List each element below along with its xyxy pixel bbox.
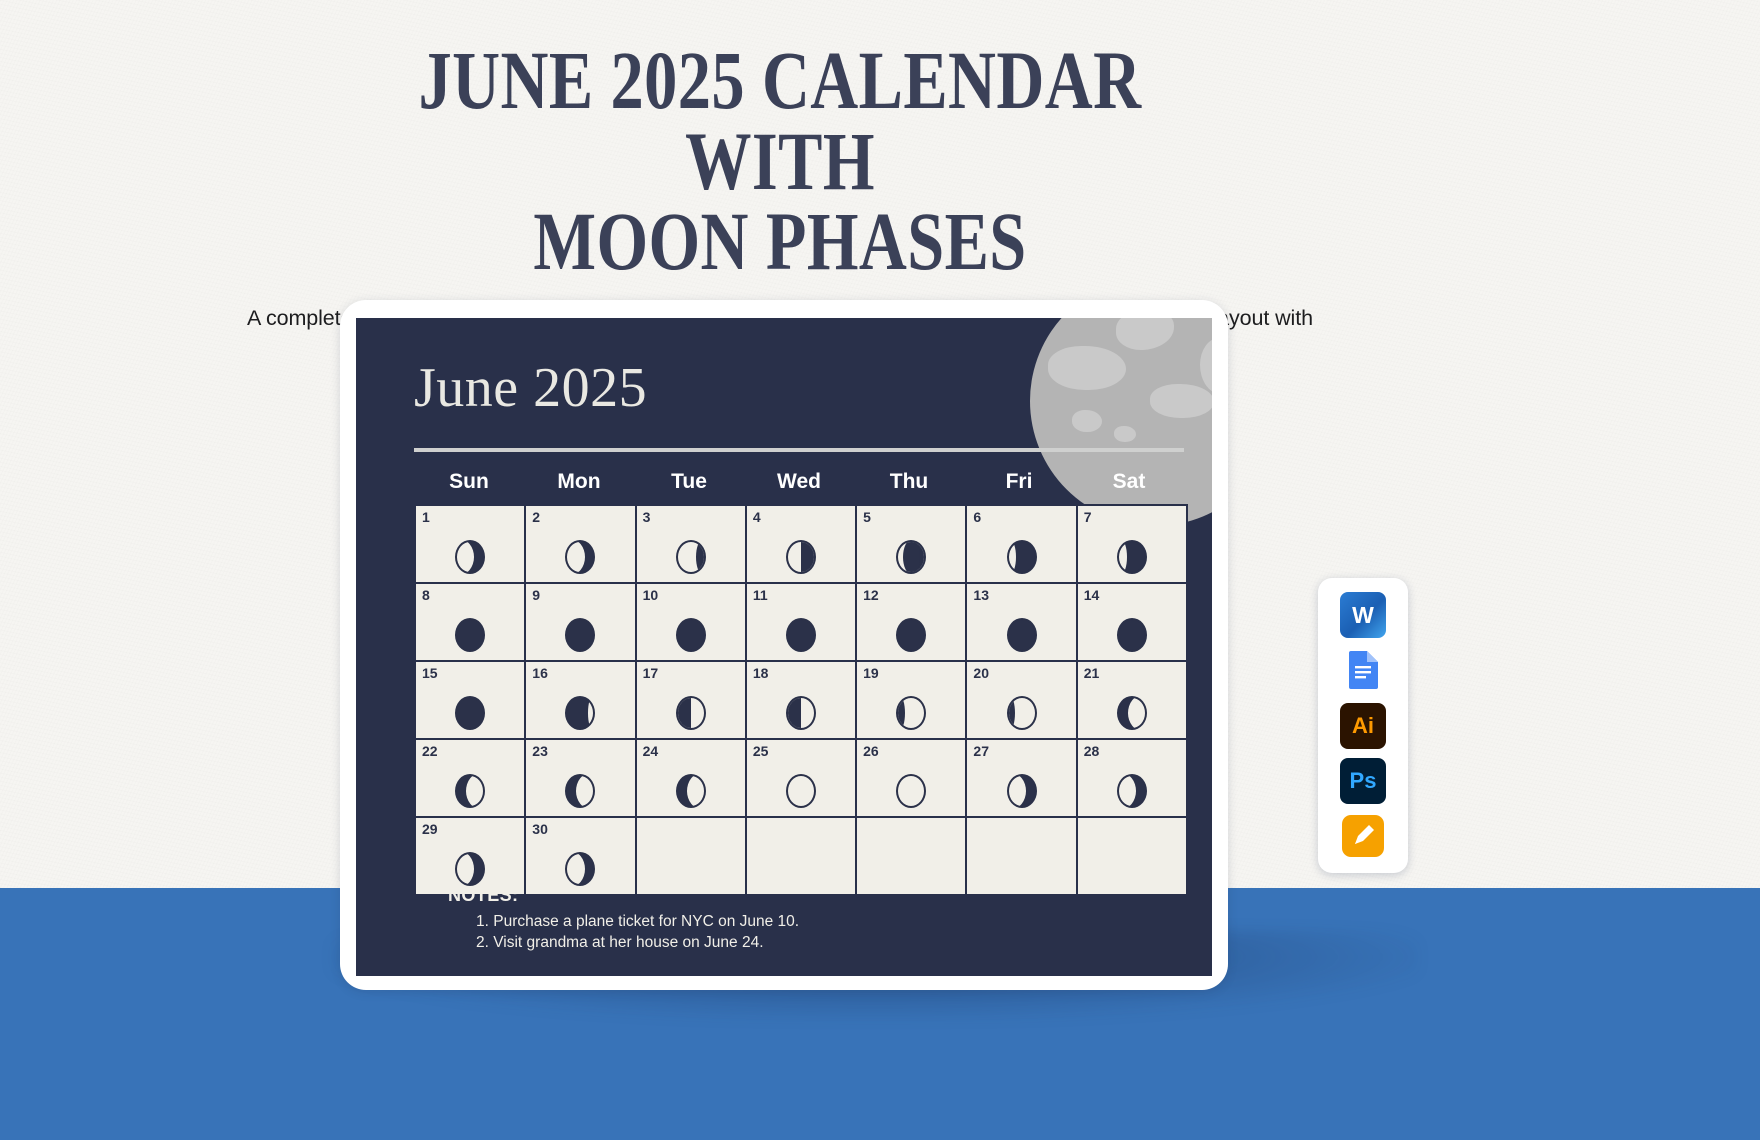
calendar-day-cell[interactable]: 4 [747, 506, 857, 584]
moon-phase-slot [416, 690, 524, 730]
calendar-day-cell[interactable]: 28 [1078, 740, 1188, 818]
weekday-sun: Sun [414, 460, 524, 504]
moon-phase-slot [857, 612, 965, 652]
calendar-day-cell[interactable]: 15 [416, 662, 526, 740]
moon-phase-waning-crescent-wide [1007, 696, 1037, 730]
moon-phase-slot [637, 612, 745, 652]
moon-phase-full [1007, 618, 1037, 652]
day-number: 15 [422, 665, 438, 681]
day-number: 24 [643, 743, 659, 759]
day-number: 16 [532, 665, 548, 681]
moon-phase-slot [967, 768, 1075, 808]
moon-phase-slot [967, 690, 1075, 730]
moon-phase-waxing-crescent-thin [455, 852, 485, 886]
page-title-line-1: JUNE 2025 CALENDAR WITH [419, 34, 1142, 207]
pages-edit-icon[interactable] [1340, 813, 1386, 859]
moon-phase-slot [637, 690, 745, 730]
moon-phase-slot [857, 690, 965, 730]
calendar-day-cell[interactable]: 7 [1078, 506, 1188, 584]
moon-phase-slot [857, 534, 965, 574]
moon-phase-slot [747, 534, 855, 574]
calendar-day-cell[interactable]: 19 [857, 662, 967, 740]
weekday-sat: Sat [1074, 460, 1184, 504]
moon-phase-waning-crescent-thin [1117, 696, 1147, 730]
page-title-line-2: MOON PHASES [533, 195, 1026, 287]
calendar-day-cell[interactable]: 10 [637, 584, 747, 662]
moon-phase-waning-crescent-thin [676, 774, 706, 808]
day-number: 20 [973, 665, 989, 681]
moon-phase-waning-crescent-thin [565, 774, 595, 808]
day-number: 3 [643, 509, 651, 525]
day-number: 2 [532, 509, 540, 525]
moon-phase-waxing-gibbous-large [1117, 540, 1147, 574]
calendar-grid: 1234567891011121314151617181920212223242… [414, 504, 1188, 896]
moon-phase-new [896, 774, 926, 808]
notes-section: NOTES: 1. Purchase a plane ticket for NY… [448, 885, 1148, 954]
moon-phase-slot [967, 612, 1075, 652]
day-number: 18 [753, 665, 769, 681]
moon-phase-slot [747, 690, 855, 730]
word-icon[interactable]: W [1340, 592, 1386, 638]
day-number: 12 [863, 587, 879, 603]
title-divider [414, 448, 1184, 452]
weekday-wed: Wed [744, 460, 854, 504]
moon-phase-waxing-crescent-thin [1117, 774, 1147, 808]
calendar-day-cell[interactable]: 20 [967, 662, 1077, 740]
photoshop-icon[interactable]: Ps [1340, 758, 1386, 804]
day-number: 19 [863, 665, 879, 681]
day-number: 13 [973, 587, 989, 603]
calendar-day-cell[interactable]: 12 [857, 584, 967, 662]
page-title: JUNE 2025 CALENDAR WITH MOON PHASES [340, 40, 1220, 282]
calendar-day-cell[interactable]: 22 [416, 740, 526, 818]
month-title: June 2025 [414, 356, 647, 420]
day-number: 27 [973, 743, 989, 759]
moon-phase-slot [416, 612, 524, 652]
moon-phase-full [565, 618, 595, 652]
moon-phase-slot [637, 534, 745, 574]
moon-phase-last-quarter [786, 696, 816, 730]
moon-phase-full [786, 618, 816, 652]
tablet-frame: June 2025 SunMonTueWedThuFriSat 12345678… [340, 300, 1228, 990]
calendar-day-cell[interactable]: 26 [857, 740, 967, 818]
moon-phase-slot [526, 612, 634, 652]
illustrator-icon-label: Ai [1352, 713, 1374, 739]
moon-phase-waxing-gibbous-large [1007, 540, 1037, 574]
moon-phase-waxing-crescent-wide [676, 540, 706, 574]
day-number: 9 [532, 587, 540, 603]
calendar-card: June 2025 SunMonTueWedThuFriSat 12345678… [356, 318, 1212, 976]
calendar-day-cell[interactable]: 2 [526, 506, 636, 584]
moon-phase-waxing-crescent-thin [1007, 774, 1037, 808]
moon-phase-full [455, 696, 485, 730]
day-number: 29 [422, 821, 438, 837]
moon-phase-slot [637, 768, 745, 808]
moon-phase-waning-gibbous-large [565, 696, 595, 730]
calendar-day-cell[interactable]: 27 [967, 740, 1077, 818]
moon-phase-slot [1078, 534, 1186, 574]
weekday-fri: Fri [964, 460, 1074, 504]
moon-phase-first-quarter [786, 540, 816, 574]
day-number: 21 [1084, 665, 1100, 681]
calendar-day-cell[interactable]: 21 [1078, 662, 1188, 740]
calendar-day-cell[interactable]: 23 [526, 740, 636, 818]
notes-title: NOTES: [448, 885, 1148, 906]
moon-phase-full [676, 618, 706, 652]
moon-phase-slot [526, 534, 634, 574]
calendar-day-cell[interactable]: 1 [416, 506, 526, 584]
moon-phase-slot [747, 768, 855, 808]
day-number: 26 [863, 743, 879, 759]
moon-phase-waxing-gibbous [896, 540, 926, 574]
google-docs-icon[interactable] [1340, 647, 1386, 693]
calendar-day-cell[interactable]: 6 [967, 506, 1077, 584]
calendar-day-cell[interactable]: 5 [857, 506, 967, 584]
calendar-day-cell[interactable]: 18 [747, 662, 857, 740]
day-number: 30 [532, 821, 548, 837]
moon-phase-slot [526, 768, 634, 808]
calendar-day-cell[interactable]: 8 [416, 584, 526, 662]
calendar-day-cell[interactable]: 24 [637, 740, 747, 818]
day-number: 14 [1084, 587, 1100, 603]
day-number: 1 [422, 509, 430, 525]
weekday-thu: Thu [854, 460, 964, 504]
day-number: 23 [532, 743, 548, 759]
moon-phase-slot [857, 768, 965, 808]
weekday-tue: Tue [634, 460, 744, 504]
moon-phase-waxing-crescent-thin [565, 540, 595, 574]
calendar-day-cell[interactable]: 14 [1078, 584, 1188, 662]
calendar-day-cell[interactable]: 13 [967, 584, 1077, 662]
moon-phase-slot [416, 846, 524, 886]
moon-phase-slot [967, 534, 1075, 574]
moon-phase-waning-crescent-thin [455, 774, 485, 808]
note-item: 2. Visit grandma at her house on June 24… [476, 933, 1148, 954]
moon-phase-slot [416, 534, 524, 574]
photoshop-icon-label: Ps [1350, 768, 1377, 794]
moon-phase-slot [1078, 768, 1186, 808]
word-icon-label: W [1352, 602, 1374, 629]
moon-phase-slot [416, 768, 524, 808]
day-number: 4 [753, 509, 761, 525]
calendar-day-cell[interactable]: 11 [747, 584, 857, 662]
day-number: 17 [643, 665, 659, 681]
calendar-day-cell[interactable]: 3 [637, 506, 747, 584]
moon-phase-slot [747, 612, 855, 652]
calendar-day-cell[interactable]: 16 [526, 662, 636, 740]
format-rail[interactable]: WAiPs [1318, 578, 1408, 873]
weekday-mon: Mon [524, 460, 634, 504]
moon-phase-new [786, 774, 816, 808]
moon-phase-waxing-crescent-thin [455, 540, 485, 574]
calendar-day-cell[interactable]: 17 [637, 662, 747, 740]
day-number: 10 [643, 587, 659, 603]
day-number: 6 [973, 509, 981, 525]
calendar-day-cell[interactable]: 9 [526, 584, 636, 662]
day-number: 22 [422, 743, 438, 759]
moon-phase-slot [1078, 612, 1186, 652]
illustrator-icon[interactable]: Ai [1340, 703, 1386, 749]
note-item: 1. Purchase a plane ticket for NYC on Ju… [476, 912, 1148, 933]
day-number: 28 [1084, 743, 1100, 759]
moon-phase-waning-crescent-wide [896, 696, 926, 730]
moon-phase-last-quarter [676, 696, 706, 730]
day-number: 5 [863, 509, 871, 525]
weekday-header-row: SunMonTueWedThuFriSat [414, 460, 1184, 504]
day-number: 8 [422, 587, 430, 603]
moon-phase-waxing-crescent-thin [565, 852, 595, 886]
calendar-day-cell[interactable]: 25 [747, 740, 857, 818]
moon-phase-full [1117, 618, 1147, 652]
notes-list: 1. Purchase a plane ticket for NYC on Ju… [448, 912, 1148, 954]
day-number: 25 [753, 743, 769, 759]
day-number: 7 [1084, 509, 1092, 525]
moon-phase-slot [526, 690, 634, 730]
moon-phase-full [896, 618, 926, 652]
day-number: 11 [753, 587, 768, 603]
moon-phase-slot [526, 846, 634, 886]
moon-phase-full [455, 618, 485, 652]
moon-phase-slot [1078, 690, 1186, 730]
